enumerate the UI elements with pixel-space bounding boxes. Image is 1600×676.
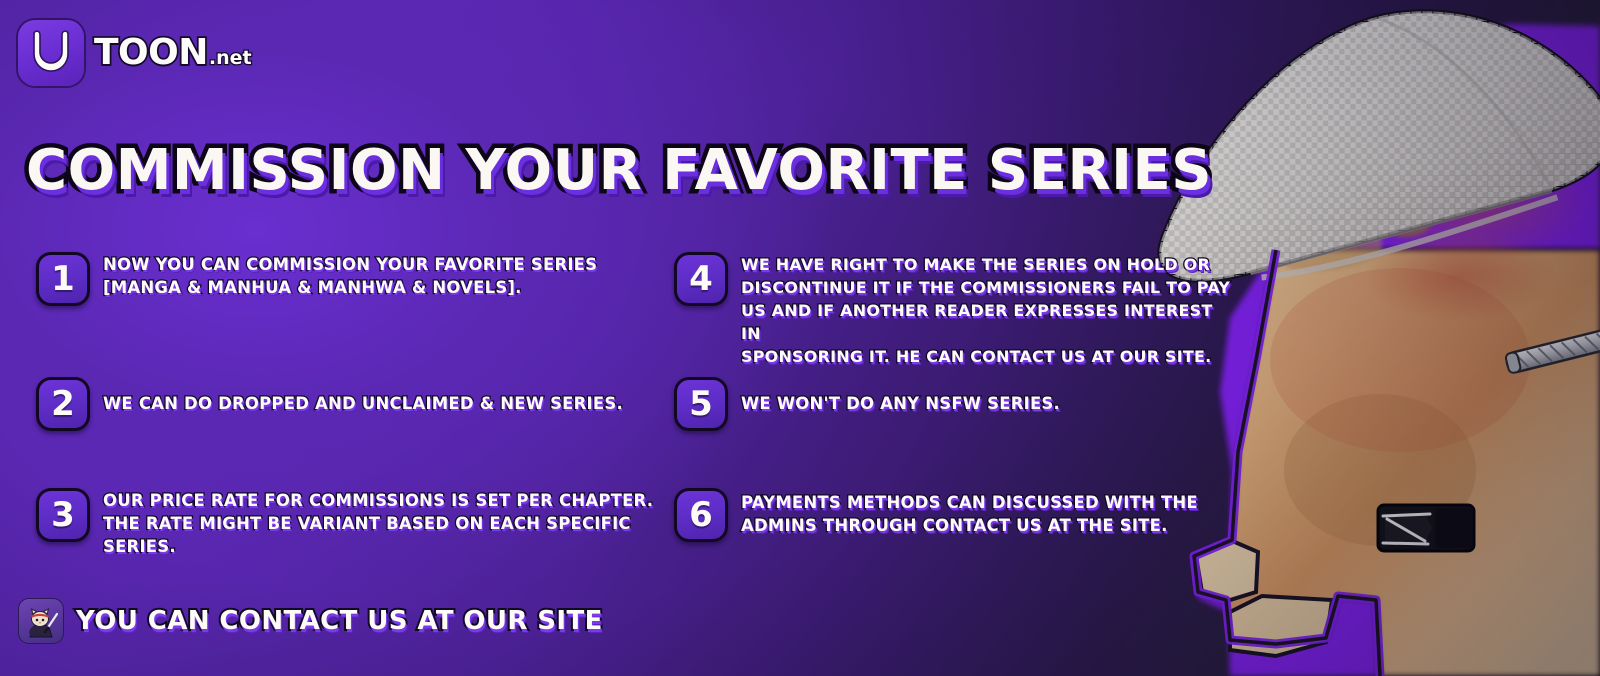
item-number: 1: [51, 262, 75, 296]
page-title: COMMISSION YOUR FAVORITE SERIES: [26, 143, 1212, 199]
samurai-cat-avatar-icon: [18, 598, 64, 644]
wordmark-name: TOON: [94, 35, 208, 71]
item-number-badge: 4: [674, 252, 728, 306]
item-number-badge: 3: [36, 488, 90, 542]
item-text: NOW YOU CAN COMMISSION YOUR FAVORITE SER…: [103, 252, 597, 299]
item-number-badge: 5: [674, 377, 728, 431]
item-text: WE CAN DO DROPPED AND UNCLAIMED & NEW SE…: [103, 377, 623, 415]
wordmark-suffix: .net: [209, 49, 252, 68]
item-number: 6: [689, 498, 713, 532]
contact-footer[interactable]: YOU CAN CONTACT US AT OUR SITE: [18, 598, 603, 644]
list-item: 3 OUR PRICE RATE FOR COMMISSIONS IS SET …: [36, 488, 676, 558]
list-item: 4 WE HAVE RIGHT TO MAKE THE SERIES ON HO…: [674, 252, 1234, 368]
list-item: 1 NOW YOU CAN COMMISSION YOUR FAVORITE S…: [36, 252, 597, 306]
item-number-badge: 2: [36, 377, 90, 431]
item-text: WE HAVE RIGHT TO MAKE THE SERIES ON HOLD…: [741, 252, 1234, 368]
list-item: 2 WE CAN DO DROPPED AND UNCLAIMED & NEW …: [36, 377, 623, 431]
commission-banner: TOON .net COMMISSION YOUR FAVORITE SERIE…: [0, 0, 1600, 676]
item-number-badge: 1: [36, 252, 90, 306]
item-text: WE WON'T DO ANY NSFW SERIES.: [741, 377, 1060, 415]
list-item: 6 PAYMENTS METHODS CAN DISCUSSED WITH TH…: [674, 488, 1198, 542]
contact-footer-text: YOU CAN CONTACT US AT OUR SITE: [76, 606, 603, 636]
list-item: 5 WE WON'T DO ANY NSFW SERIES.: [674, 377, 1060, 431]
item-number: 3: [51, 498, 75, 532]
item-text: OUR PRICE RATE FOR COMMISSIONS IS SET PE…: [103, 488, 676, 558]
item-number: 5: [689, 387, 713, 421]
toon-crescent-logo-icon: [18, 20, 84, 86]
item-number-badge: 6: [674, 488, 728, 542]
item-number: 4: [689, 262, 713, 296]
item-number: 2: [51, 387, 75, 421]
item-text: PAYMENTS METHODS CAN DISCUSSED WITH THE …: [741, 488, 1198, 537]
wordmark: TOON .net: [94, 35, 252, 71]
site-logo[interactable]: TOON .net: [18, 20, 252, 86]
